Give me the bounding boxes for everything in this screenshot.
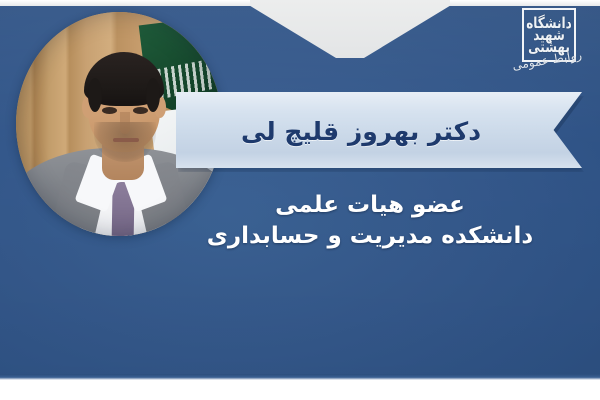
subtitle-block: عضو هیات علمی دانشکده مدیریت و حسابداری (150, 190, 590, 252)
person-name: دکتر بهروز قلیچ لی (241, 117, 517, 146)
bottom-edge-strip (0, 380, 600, 400)
university-logo: دانشگاه شهید بهشتی روابط عمومی (470, 4, 590, 92)
public-relations-script: روابط عمومی (474, 48, 586, 98)
poster-canvas: دکتر بهروز قلیچ لی عضو هیات علمی دانشکده… (0, 0, 600, 400)
faculty-name: دانشکده مدیریت و حسابداری (150, 220, 590, 252)
position-title: عضو هیات علمی (150, 190, 590, 220)
name-banner: دکتر بهروز قلیچ لی (176, 92, 582, 168)
